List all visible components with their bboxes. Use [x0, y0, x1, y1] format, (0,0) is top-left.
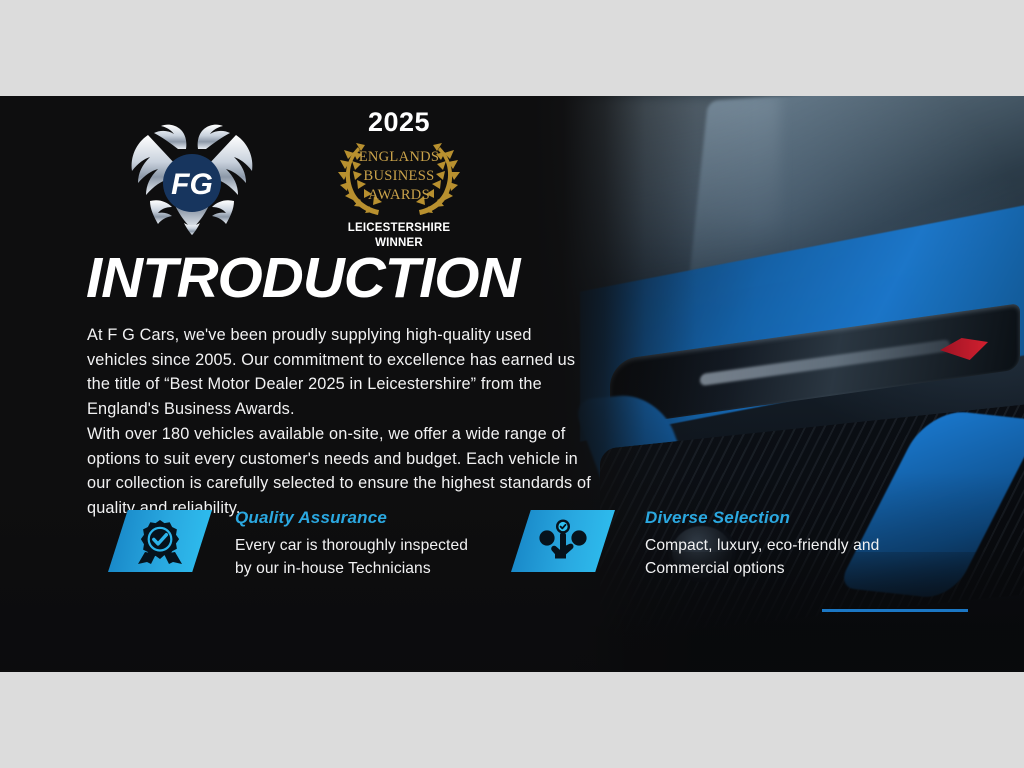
introduction-slide: FG 2025 — [0, 96, 1024, 672]
award-org-line-1: ENGLANDS — [334, 148, 464, 167]
award-org-line-2: BUSINESS — [334, 167, 464, 186]
award-badge: 2025 — [334, 106, 464, 256]
feature-text-block: Diverse Selection Compact, luxury, eco-f… — [645, 507, 945, 580]
feature-title: Quality Assurance — [235, 507, 485, 529]
award-organisation: ENGLANDS BUSINESS AWARDS — [334, 148, 464, 205]
options-selection-hand-icon — [538, 519, 588, 565]
award-org-line-3: AWARDS — [334, 186, 464, 205]
paragraph-2: With over 180 vehicles available on-site… — [87, 422, 595, 521]
feature-text-block: Quality Assurance Every car is thoroughl… — [235, 507, 485, 580]
feature-description: Every car is thoroughly inspected by our… — [235, 534, 485, 580]
award-year: 2025 — [334, 109, 464, 136]
logo-monogram: FG — [171, 168, 213, 201]
slide-content: FG 2025 — [0, 96, 1024, 672]
blue-accent-rule — [822, 609, 968, 612]
award-region: LEICESTERSHIRE — [334, 221, 464, 236]
fg-cars-logo: FG — [116, 113, 268, 235]
introduction-body: At F G Cars, we've been proudly supplyin… — [87, 323, 595, 521]
award-rosette-check-icon — [135, 519, 185, 565]
feature-title: Diverse Selection — [645, 507, 945, 529]
laurel-wreath-icon: ENGLANDS BUSINESS AWARDS — [334, 139, 464, 217]
paragraph-1: At F G Cars, we've been proudly supplyin… — [87, 323, 595, 422]
page-title: INTRODUCTION — [86, 250, 519, 307]
slide-canvas: FG 2025 — [0, 0, 1024, 768]
feature-description: Compact, luxury, eco-friendly and Commer… — [645, 534, 945, 580]
